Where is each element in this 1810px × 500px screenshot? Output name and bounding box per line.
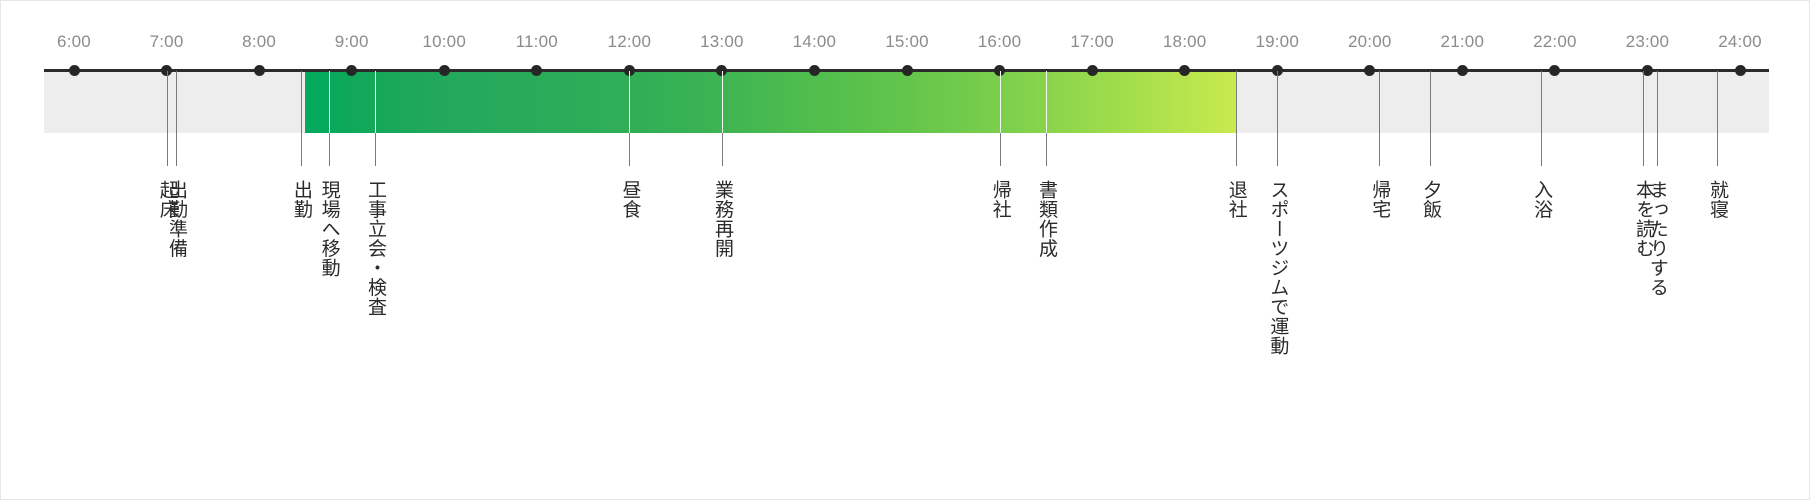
hour-tick-label: 22:00 <box>1533 33 1577 50</box>
event-label: 退社 <box>1223 180 1247 219</box>
event-leader-line <box>1541 71 1542 166</box>
hour-tick-label: 21:00 <box>1441 33 1485 50</box>
hour-tick-label: 10:00 <box>422 33 466 50</box>
event-leader-line-on-bar <box>375 71 376 133</box>
event-leader-line <box>176 71 177 166</box>
event-leader-line <box>1236 71 1237 166</box>
hour-tick-label: 20:00 <box>1348 33 1392 50</box>
timeline-chart: 6:007:008:009:0010:0011:0012:0013:0014:0… <box>0 0 1810 500</box>
event-label: 夕飯 <box>1418 180 1442 219</box>
event-leader-line <box>1430 71 1431 166</box>
event-label: 業務再開 <box>710 180 734 258</box>
hour-tick-label: 11:00 <box>516 33 558 50</box>
event-label: まったりする <box>1645 180 1669 297</box>
event-leader-line <box>167 71 168 166</box>
event-leader-line-on-bar <box>1000 71 1001 133</box>
hour-tick-label: 12:00 <box>608 33 652 50</box>
hour-dot <box>1087 65 1098 76</box>
hour-tick-label: 16:00 <box>978 33 1022 50</box>
hour-tick-label: 18:00 <box>1163 33 1207 50</box>
hour-dot <box>439 65 450 76</box>
event-leader-line <box>1717 71 1718 166</box>
hour-dot <box>809 65 820 76</box>
hour-dot <box>69 65 80 76</box>
hour-tick-label: 24:00 <box>1718 33 1762 50</box>
hour-dot <box>1735 65 1746 76</box>
hour-tick-label: 8:00 <box>242 33 276 50</box>
event-leader-line <box>1657 71 1658 166</box>
hour-tick-label: 14:00 <box>793 33 837 50</box>
hour-tick-label: 9:00 <box>335 33 369 50</box>
hour-tick-label: 15:00 <box>885 33 929 50</box>
hour-tick-label: 17:00 <box>1070 33 1114 50</box>
event-label: 昼食 <box>617 180 641 219</box>
work-period-gradient-bar <box>305 71 1235 133</box>
event-leader-line-on-bar <box>329 71 330 133</box>
event-label: 就寝 <box>1705 180 1729 219</box>
event-label: 帰社 <box>987 180 1011 219</box>
hour-dot <box>254 65 265 76</box>
event-leader-line <box>1379 71 1380 166</box>
hour-dot <box>1457 65 1468 76</box>
event-label: 工事立会・検査 <box>363 180 387 317</box>
hour-tick-label: 7:00 <box>150 33 184 50</box>
event-label: 書類作成 <box>1034 180 1058 258</box>
hour-dot <box>902 65 913 76</box>
hour-tick-label: 13:00 <box>700 33 744 50</box>
hour-tick-label: 23:00 <box>1626 33 1670 50</box>
event-leader-line <box>1643 71 1644 166</box>
event-label: 出勤準備 <box>164 180 188 258</box>
event-label: スポーツジムで運動 <box>1265 180 1289 356</box>
event-label: 出勤 <box>289 180 313 219</box>
event-label: 帰宅 <box>1367 180 1391 219</box>
event-leader-line-on-bar <box>722 71 723 133</box>
event-leader-line <box>1277 71 1278 166</box>
hour-tick-label: 19:00 <box>1255 33 1299 50</box>
event-label: 現場へ移動 <box>316 180 340 278</box>
event-leader-line-on-bar <box>629 71 630 133</box>
event-leader-line <box>301 71 302 166</box>
event-leader-line-on-bar <box>1046 71 1047 133</box>
hour-tick-label: 6:00 <box>57 33 91 50</box>
event-label: 入浴 <box>1529 180 1553 219</box>
